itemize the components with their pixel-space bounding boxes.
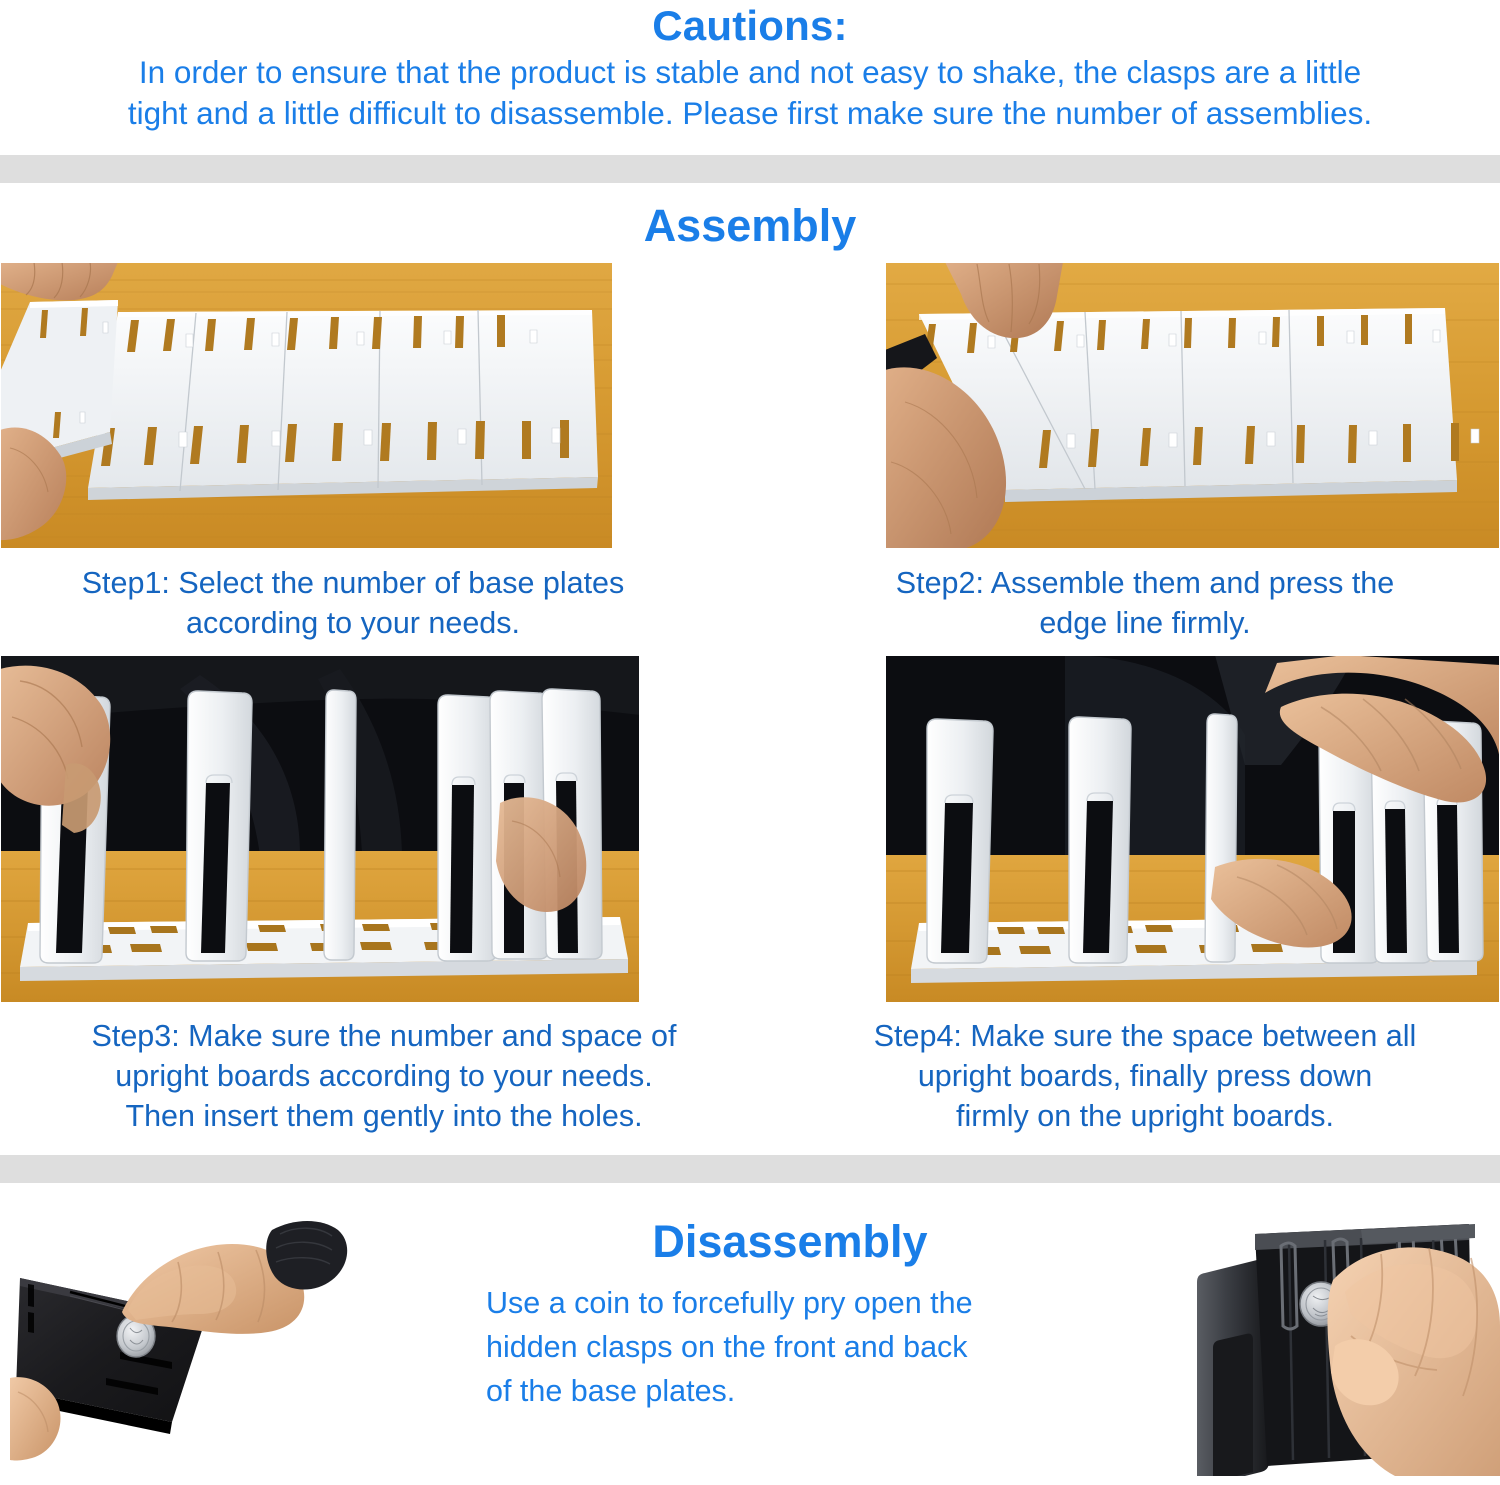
step1-caption: Step1: Select the number of base plates … <box>8 563 698 643</box>
step3-caption: Step3: Make sure the number and space of… <box>4 1016 764 1136</box>
instruction-infographic: Cautions: In order to ensure that the pr… <box>0 0 1500 1485</box>
disassembly-left-photo <box>10 1200 370 1470</box>
step2-photo <box>885 262 1500 549</box>
cautions-title: Cautions: <box>0 2 1500 50</box>
section-divider-bottom <box>0 1155 1500 1183</box>
step2-caption: Step2: Assemble them and press the edge … <box>800 563 1490 643</box>
step4-caption: Step4: Make sure the space between all u… <box>790 1016 1500 1136</box>
disassembly-body-text: Use a coin to forcefully pry open the hi… <box>486 1281 1086 1413</box>
section-divider-top <box>0 155 1500 183</box>
assembly-section-title: Assembly <box>0 200 1500 252</box>
step3-photo <box>0 655 640 1003</box>
step1-photo <box>0 262 613 549</box>
cautions-body-text: In order to ensure that the product is s… <box>28 52 1472 134</box>
disassembly-section-title: Disassembly <box>420 1216 1160 1268</box>
disassembly-right-photo <box>1185 1196 1500 1476</box>
step4-photo <box>885 655 1500 1003</box>
